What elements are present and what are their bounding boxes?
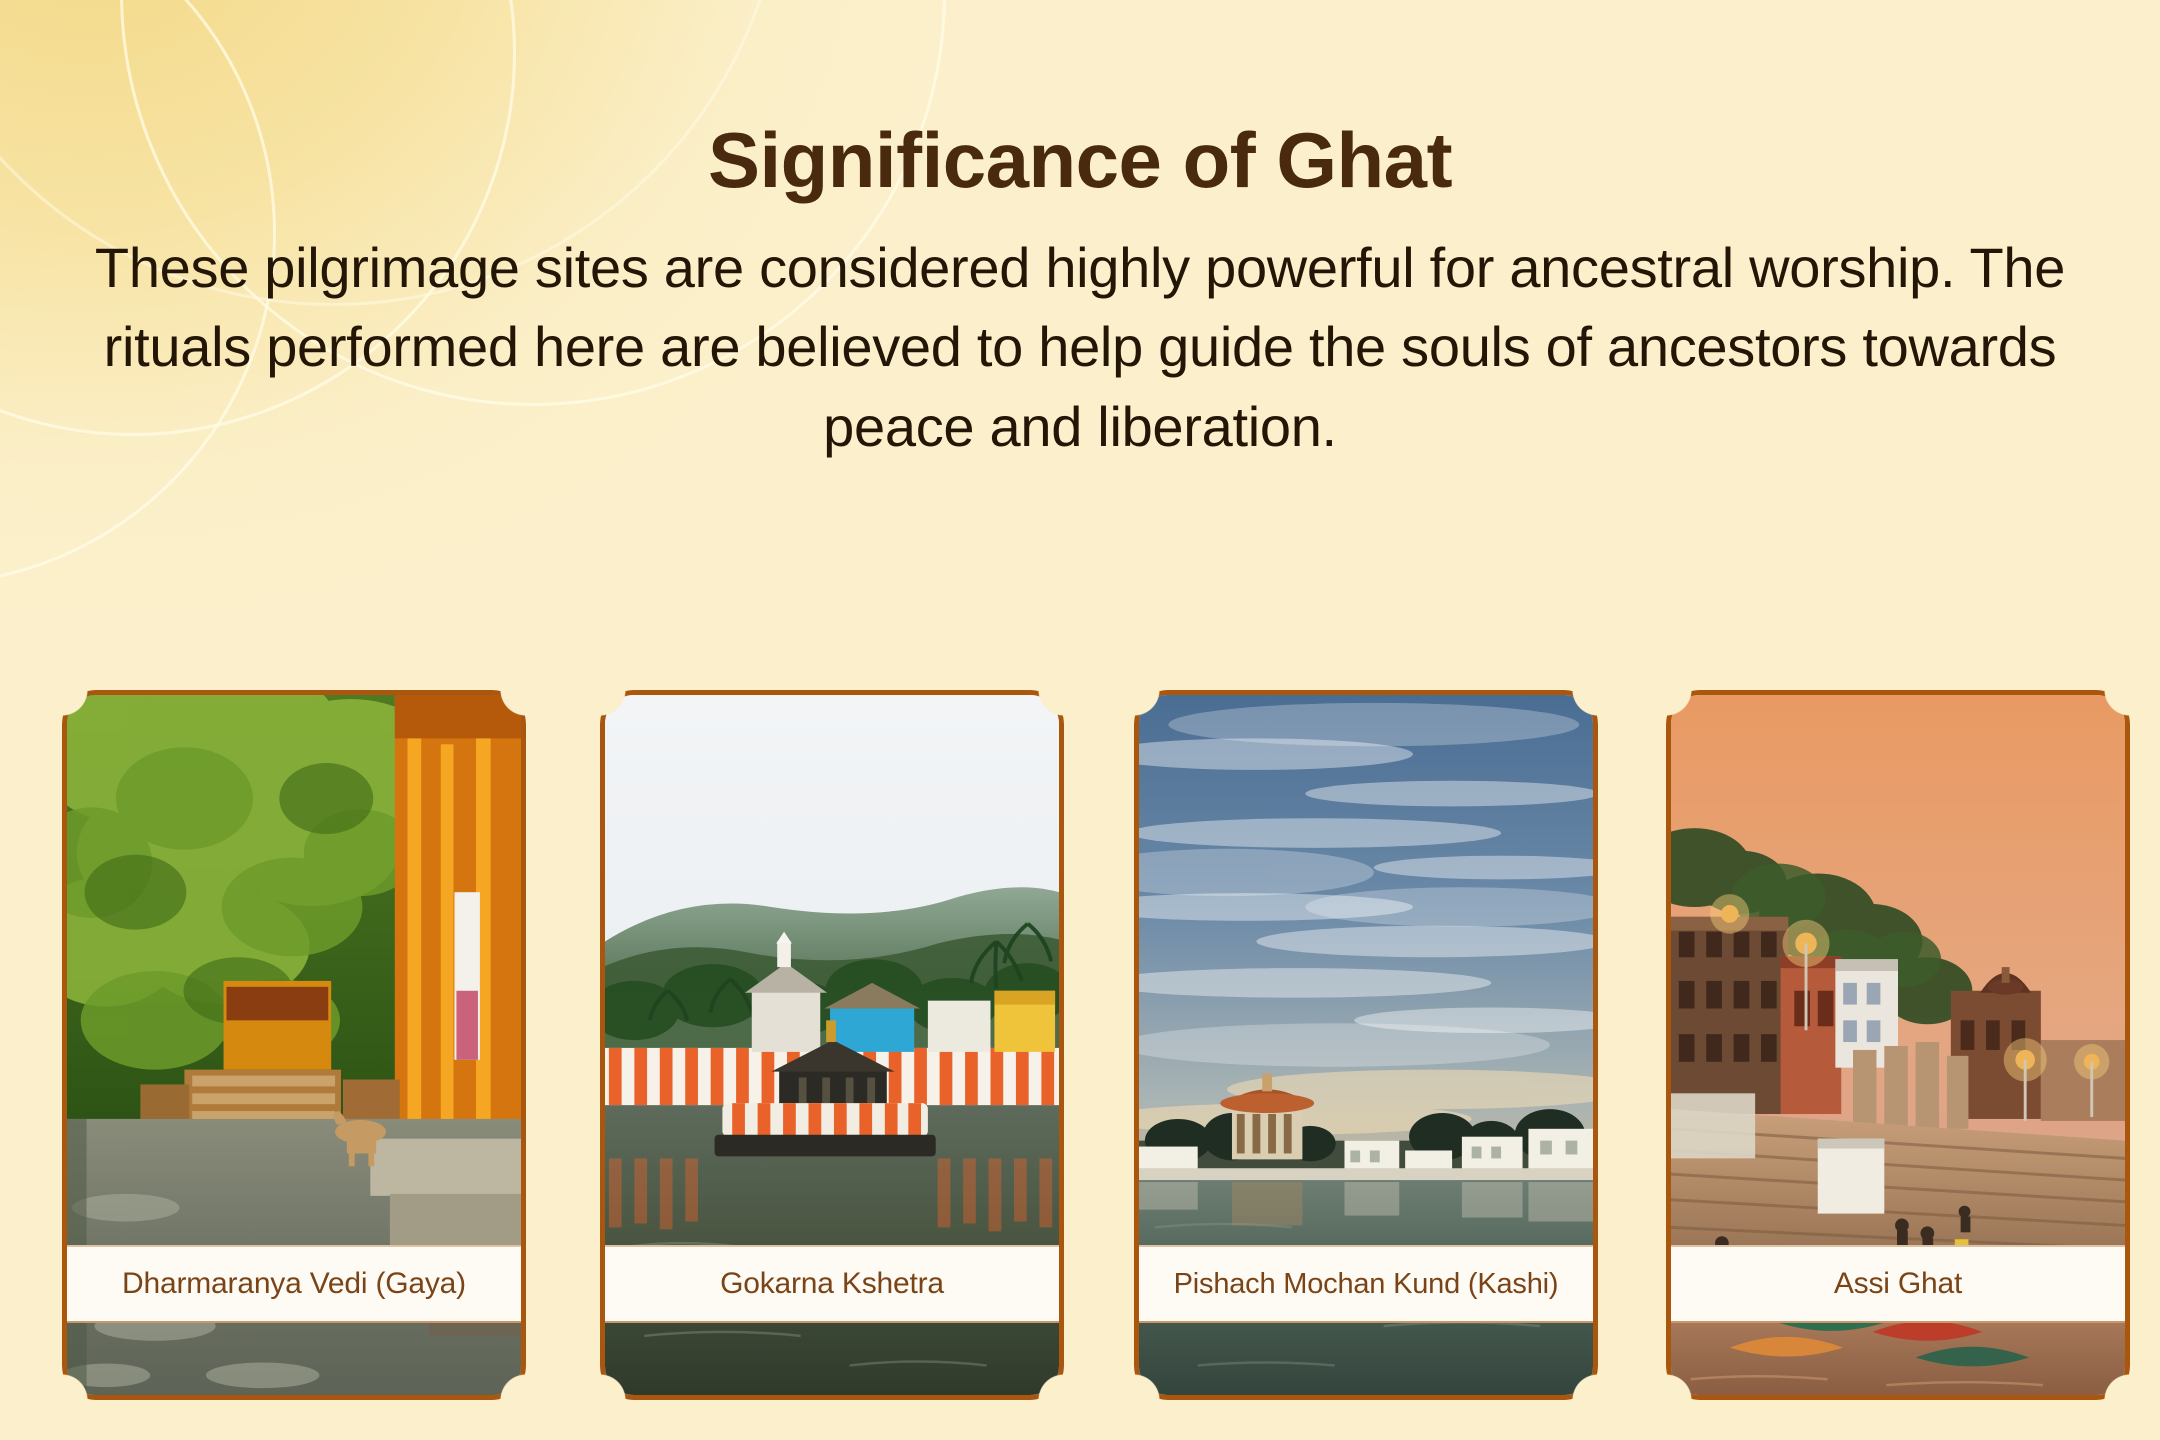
card-frame: Gokarna Kshetra [600,690,1064,1400]
header-block: Significance of Ghat These pilgrimage si… [0,120,2160,466]
card-caption-band: Dharmaranya Vedi (Gaya) [65,1245,523,1323]
intro-paragraph: These pilgrimage sites are considered hi… [75,228,2085,467]
card-caption-label: Gokarna Kshetra [720,1267,944,1301]
card-caption-label: Pishach Mochan Kund (Kashi) [1174,1268,1559,1301]
ghat-card-gokarna-kshetra[interactable]: Gokarna Kshetra [600,690,1064,1400]
card-caption-label: Assi Ghat [1834,1267,1962,1301]
ghat-card-pishach-mochan-kund[interactable]: Pishach Mochan Kund (Kashi) [1134,690,1598,1400]
ghat-card-assi-ghat[interactable]: Assi Ghat [1666,690,2130,1400]
card-caption-band: Pishach Mochan Kund (Kashi) [1137,1245,1595,1323]
card-frame: Dharmaranya Vedi (Gaya) [62,690,526,1400]
card-frame: Pishach Mochan Kund (Kashi) [1134,690,1598,1400]
card-frame: Assi Ghat [1666,690,2130,1400]
page-title: Significance of Ghat [0,120,2160,202]
card-caption-label: Dharmaranya Vedi (Gaya) [122,1267,466,1301]
card-caption-band: Gokarna Kshetra [603,1245,1061,1323]
card-caption-band: Assi Ghat [1669,1245,2127,1323]
ghat-card-row: Dharmaranya Vedi (Gaya) [0,690,2160,1410]
ghat-card-dharmaranya-vedi[interactable]: Dharmaranya Vedi (Gaya) [62,690,526,1400]
